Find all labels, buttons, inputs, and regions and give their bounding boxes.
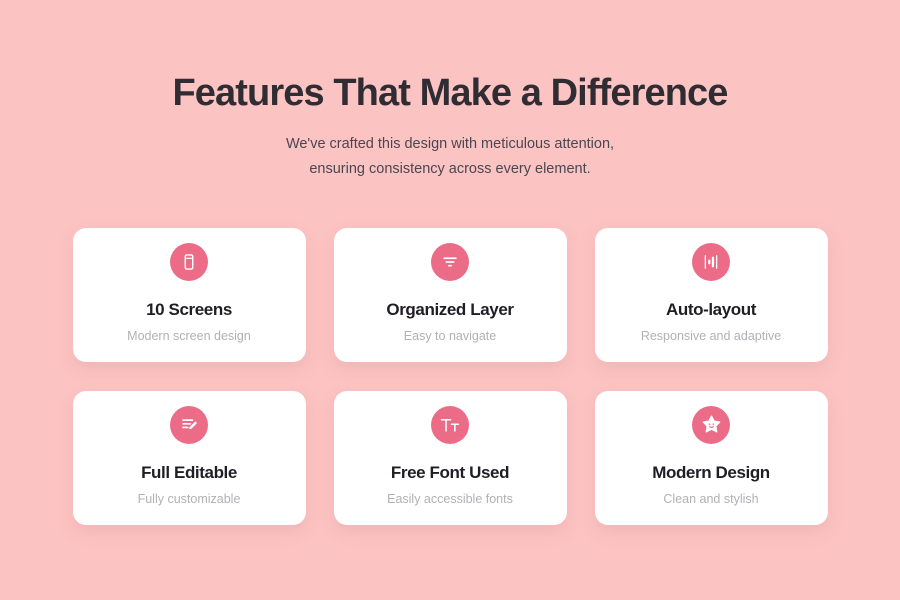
feature-card-free-font-used[interactable]: Free Font Used Easily accessible fonts (334, 391, 567, 525)
page-subtitle: We've crafted this design with meticulou… (0, 132, 900, 182)
page-subtitle-line-2: ensuring consistency across every elemen… (0, 157, 900, 182)
feature-card-10-screens[interactable]: 10 Screens Modern screen design (73, 228, 306, 362)
feature-card-title: Auto-layout (666, 300, 756, 320)
feature-card-organized-layer[interactable]: Organized Layer Easy to navigate (334, 228, 567, 362)
feature-card-title: Organized Layer (386, 300, 513, 320)
feature-card-desc: Easy to navigate (404, 329, 496, 345)
page-title: Features That Make a Difference (0, 72, 900, 116)
feature-card-title: Free Font Used (391, 463, 509, 483)
feature-card-title: Modern Design (652, 463, 770, 483)
feature-card-auto-layout[interactable]: Auto-layout Responsive and adaptive (595, 228, 828, 362)
mobile-screen-icon (170, 243, 208, 281)
feature-card-desc: Easily accessible fonts (387, 492, 513, 508)
layers-filter-icon (431, 243, 469, 281)
feature-card-desc: Fully customizable (138, 492, 241, 508)
feature-card-full-editable[interactable]: Full Editable Fully customizable (73, 391, 306, 525)
page-subtitle-line-1: We've crafted this design with meticulou… (0, 132, 900, 157)
feature-card-desc: Responsive and adaptive (641, 329, 781, 345)
feature-card-title: 10 Screens (146, 300, 232, 320)
edit-pencil-icon (170, 406, 208, 444)
feature-card-desc: Modern screen design (127, 329, 251, 345)
feature-card-title: Full Editable (141, 463, 237, 483)
auto-layout-bars-icon (692, 243, 730, 281)
page-header: Features That Make a Difference We've cr… (0, 0, 900, 182)
typography-icon (431, 406, 469, 444)
features-grid: 10 Screens Modern screen design Organize… (73, 228, 828, 525)
features-page: Features That Make a Difference We've cr… (0, 0, 900, 600)
smiling-star-icon (692, 406, 730, 444)
feature-card-modern-design[interactable]: Modern Design Clean and stylish (595, 391, 828, 525)
feature-card-desc: Clean and stylish (663, 492, 758, 508)
